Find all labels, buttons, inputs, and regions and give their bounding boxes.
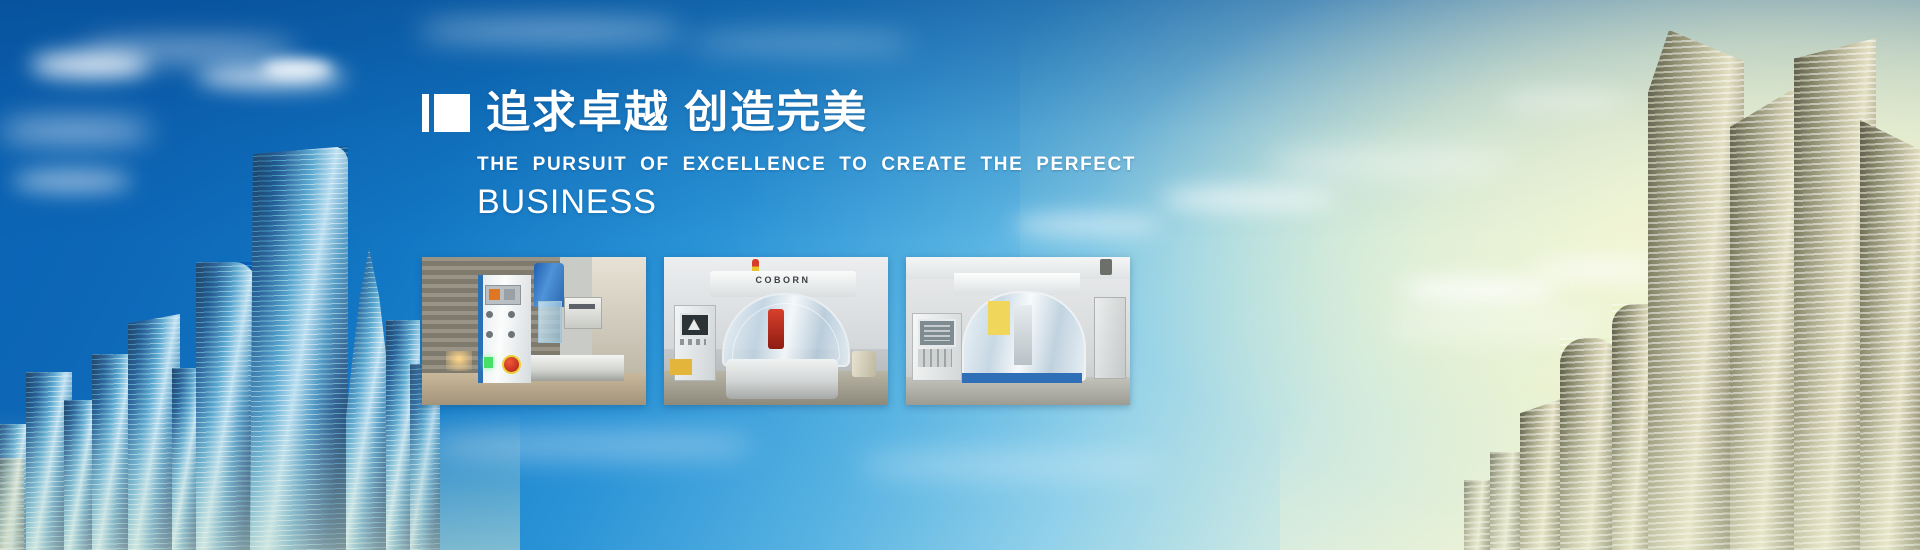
cloud-icon xyxy=(1400,278,1560,302)
photo1-power-lamp-icon xyxy=(484,357,493,368)
cloud-icon xyxy=(1160,186,1340,212)
photo2-red-component xyxy=(768,309,784,349)
building-right-tower-main xyxy=(1648,30,1744,550)
logo-bar-icon xyxy=(422,94,429,132)
photo2-cabinet-screen xyxy=(680,313,710,337)
banner-business-word: BUSINESS xyxy=(477,183,1162,221)
logo-bar-square-mark-icon xyxy=(422,94,470,132)
photo3-yellow-panel xyxy=(988,301,1010,335)
photo3-ceiling-lamp-icon xyxy=(1100,259,1112,275)
photo-coborn-grinder[interactable]: COBORN xyxy=(664,257,888,405)
building-right-6 xyxy=(1860,120,1920,550)
photo2-button-row xyxy=(680,339,706,345)
machine-photo-strip: COBORN xyxy=(422,257,1130,405)
banner-subtitle: THE PURSUIT OF EXCELLENCE TO CREATE THE … xyxy=(477,154,1162,176)
photo1-machine-base xyxy=(516,355,624,381)
photo1-knob xyxy=(508,311,515,318)
photo1-warm-light xyxy=(446,351,472,371)
building-left-tower-main xyxy=(250,146,348,550)
photo1-knob xyxy=(486,331,493,338)
photo1-control-box xyxy=(564,297,602,329)
photo1-knob xyxy=(508,331,515,338)
photo3-console-screen xyxy=(918,319,956,347)
photo3-blue-base-stripe xyxy=(962,373,1082,383)
page-title: 追求卓越 创造完美 xyxy=(486,89,868,137)
photo-edm-machine[interactable] xyxy=(422,257,646,405)
photo3-inner-column xyxy=(1014,305,1032,365)
photo2-barrel xyxy=(852,351,876,377)
cloud-icon xyxy=(430,430,750,460)
cloud-icon xyxy=(690,34,910,52)
photo1-panel-screen xyxy=(485,285,521,305)
building-right-far-2 xyxy=(1490,452,1520,550)
photo1-emergency-stop-icon xyxy=(502,355,521,374)
building-right-far-1 xyxy=(1464,480,1490,550)
cloud-icon xyxy=(420,20,680,42)
building-left-7 xyxy=(196,262,256,550)
banner-text-block: 追求卓越 创造完美 THE PURSUIT OF EXCELLENCE TO C… xyxy=(422,86,1162,221)
cloud-icon xyxy=(860,452,1160,478)
cloud-icon xyxy=(1270,150,1510,176)
cloud-icon xyxy=(262,60,332,78)
photo3-keypad xyxy=(918,349,952,367)
photo2-yellow-box xyxy=(670,359,692,375)
headline-row: 追求卓越 创造完美 xyxy=(422,86,1162,140)
building-right-1 xyxy=(1520,398,1564,550)
cloud-icon xyxy=(12,170,132,192)
hero-banner: 追求卓越 创造完美 THE PURSUIT OF EXCELLENCE TO C… xyxy=(0,0,1920,550)
photo2-brand-label: COBORN xyxy=(710,275,856,285)
photo1-knob xyxy=(486,311,493,318)
cloud-icon xyxy=(0,118,150,144)
cloud-icon xyxy=(1500,90,1630,112)
photo-enclosed-cnc[interactable] xyxy=(906,257,1130,405)
photo3-right-cabinet xyxy=(1094,297,1126,379)
building-left-10 xyxy=(0,458,24,550)
photo2-machine-drum xyxy=(726,359,838,399)
building-right-2 xyxy=(1560,338,1620,550)
logo-square-icon xyxy=(434,94,470,132)
photo1-glass-column xyxy=(538,301,562,343)
cloud-icon xyxy=(84,40,294,60)
cloud-icon xyxy=(1390,314,1600,336)
